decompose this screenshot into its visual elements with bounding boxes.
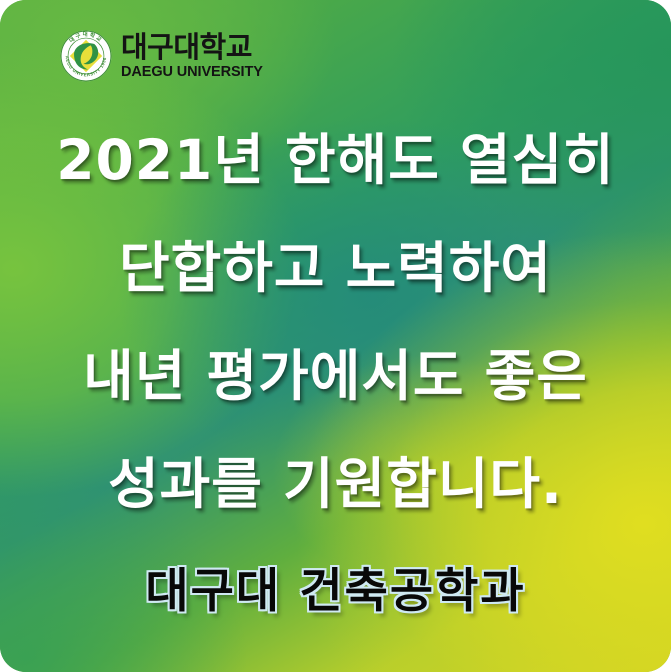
greeting-card: 대구대학교 DAEGU UNIVERSITY 1956 대구대학교 DAEGU … [0,0,671,672]
department-signature: 대구대 건축공학과 [0,560,671,624]
headline-line-2: 단합하고 노력하여 [0,214,671,322]
university-seal-icon: 대구대학교 DAEGU UNIVERSITY 1956 [60,30,112,82]
wordmark-korean: 대구대학교 [121,33,263,63]
university-wordmark: 대구대학교 DAEGU UNIVERSITY [121,33,263,79]
headline-line-3: 내년 평가에서도 좋은 [0,322,671,430]
university-logo: 대구대학교 DAEGU UNIVERSITY 1956 대구대학교 DAEGU … [60,28,263,84]
headline-line-1: 2021년 한해도 열심히 [0,106,671,214]
headline-line-4: 성과를 기원합니다. [0,430,671,538]
headline-message: 2021년 한해도 열심히 단합하고 노력하여 내년 평가에서도 좋은 성과를 … [0,106,671,538]
wordmark-english: DAEGU UNIVERSITY [121,65,263,80]
